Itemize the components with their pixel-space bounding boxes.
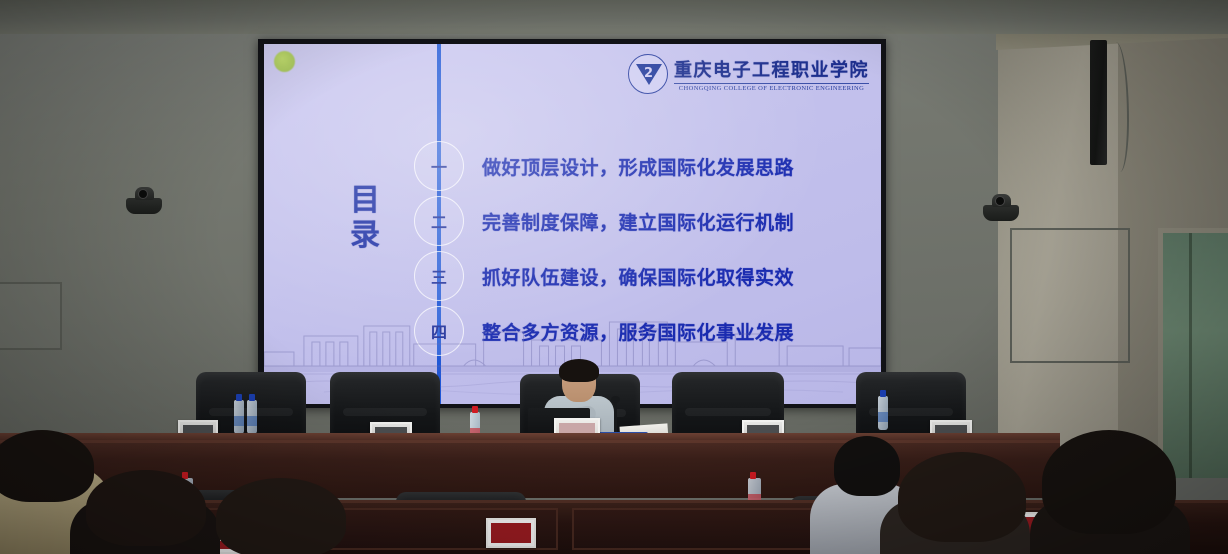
audience-5-hair [898,452,1026,542]
presentation-slide: 重庆电子工程职业学院 CHONGQING COLLEGE OF ELECTRON… [264,44,881,404]
ptz-camera-left-icon [126,198,162,214]
toc-label-2: 完善制度保障，建立国际化运行机制 [482,208,794,235]
led-screen: 重庆电子工程职业学院 CHONGQING COLLEGE OF ELECTRON… [258,39,886,408]
name-placard-7 [486,518,536,548]
toc-item-2[interactable]: 二 完善制度保障，建立国际化运行机制 [414,196,794,246]
water-bottle-1 [234,400,244,434]
wall-frame-right [1010,228,1130,363]
audience-2-hair [86,470,206,546]
audience-1-hair [0,430,94,502]
column-speaker-right [1090,40,1107,165]
toc-number-1: 一 [414,141,464,191]
wall-frame-left [0,282,62,350]
toc-label-1: 做好顶层设计，形成国际化发展思路 [482,153,794,180]
toc-item-1[interactable]: 一 做好顶层设计，形成国际化发展思路 [414,141,794,191]
table-panel-3 [572,508,842,550]
ceiling [0,0,1228,34]
water-bottle-2 [247,400,257,434]
toc-label-3: 抓好队伍建设，确保国际化取得实效 [482,263,794,290]
audience-3-hair [216,478,346,554]
glass-door-right [1158,228,1228,478]
audience-4-hair [834,436,900,496]
audience-6-hair [1042,430,1176,534]
toc-number-3: 三 [414,251,464,301]
ptz-camera-right-icon [983,205,1019,221]
toc-number-2: 二 [414,196,464,246]
toc-item-3[interactable]: 三 抓好队伍建设，确保国际化取得实效 [414,251,794,301]
presenter-hair [559,359,599,382]
conference-room-scene: 重庆电子工程职业学院 CHONGQING COLLEGE OF ELECTRON… [0,0,1228,554]
water-bottle-4 [878,396,888,430]
